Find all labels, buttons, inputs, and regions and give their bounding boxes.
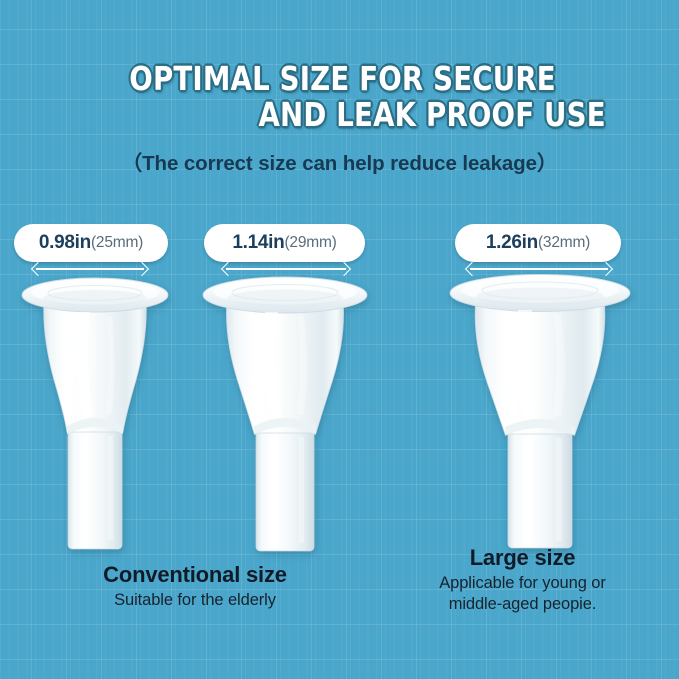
product-large-svg — [448, 272, 632, 554]
promo-image: OPTIMAL SIZE FOR SECURE AND LEAK PROOF U… — [0, 0, 679, 679]
size-badge-large: 1.26in (32mm) — [455, 224, 621, 262]
product-small — [20, 276, 170, 554]
size-badge-small-mm: (25mm) — [91, 234, 143, 252]
size-badge-small-inch: 0.98in — [39, 232, 91, 254]
caption-large-title: Large size — [385, 545, 660, 571]
product-medium-svg — [201, 274, 369, 556]
size-badge-small: 0.98in (25mm) — [14, 224, 168, 262]
caption-large-desc-line2: middle-aged peopie. — [385, 594, 660, 615]
caption-large-desc-line1: Applicable for young or — [385, 573, 660, 594]
product-large — [448, 272, 632, 554]
arrow-shaft — [36, 268, 144, 270]
width-arrow-small — [32, 263, 148, 275]
size-badge-large-inch: 1.26in — [486, 232, 538, 254]
caption-conventional-desc: Suitable for the elderly — [40, 590, 350, 611]
subtitle: （The correct size can help reduce leakag… — [0, 146, 679, 176]
product-medium — [201, 274, 369, 556]
caption-large: Large size Applicable for young or middl… — [385, 545, 660, 615]
arrow-shaft — [470, 268, 608, 270]
caption-conventional-title: Conventional size — [40, 562, 350, 588]
headline-line-1: OPTIMAL SIZE FOR SECURE — [27, 62, 679, 96]
size-badge-medium: 1.14in (29mm) — [204, 224, 365, 262]
arrow-head-left-icon — [31, 262, 45, 276]
arrow-shaft — [226, 268, 346, 270]
headline-line-2: AND LEAK PROOF USE — [27, 98, 679, 132]
caption-large-desc: Applicable for young or middle-aged peop… — [385, 573, 660, 615]
size-badge-medium-inch: 1.14in — [232, 232, 284, 254]
product-small-svg — [20, 276, 170, 554]
arrow-head-right-icon — [135, 262, 149, 276]
caption-conventional: Conventional size Suitable for the elder… — [40, 562, 350, 611]
size-badge-medium-mm: (29mm) — [284, 234, 336, 252]
size-badge-large-mm: (32mm) — [538, 234, 590, 252]
